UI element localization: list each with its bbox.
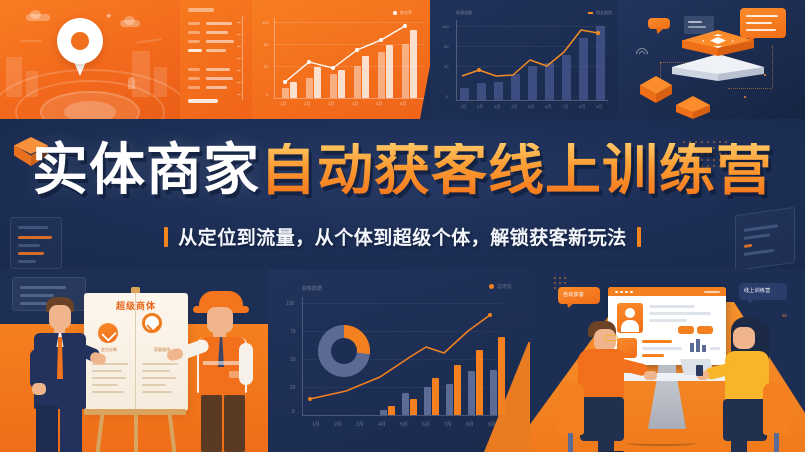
growth-combo-chart-dark: 私域流量 增 [430, 0, 630, 119]
title-section: 实体商家自动获客线上训练营 从定位到流量，从个体到超级个体，解锁获客新玩法 [0, 119, 805, 269]
chat-bubble-icon [740, 8, 786, 38]
easel-board: 超级商体 定位诊断 获客路径 [84, 287, 188, 452]
tag-icon [648, 18, 670, 29]
building-shape [154, 67, 167, 97]
online-training-session-illustration: ❝ [530, 269, 805, 452]
strip-header [188, 8, 214, 12]
growth-combo-chart-light: 转化率 1月 2月 3月 4月 5月 6月 100 60 30 0 [252, 0, 460, 119]
phone-icon [696, 365, 703, 376]
subtitle-row: 从定位到流量，从个体到超级个体，解锁获客新玩法 [0, 223, 805, 252]
trend-line [430, 0, 630, 119]
performance-dashboard-chart: 获客数据 [268, 269, 530, 452]
poster-canvas: ✦ [0, 0, 805, 452]
worker-figure [185, 291, 261, 452]
decorative-dash [20, 40, 42, 42]
small-pin-icon [128, 77, 135, 89]
follow-button[interactable] [678, 326, 694, 334]
speech-bubble-left: 自动获客 [558, 287, 600, 304]
page-title: 实体商家自动获客线上训练营 [0, 143, 805, 199]
glasses-icon [604, 335, 618, 341]
title-white-part: 实体商家 [32, 143, 260, 199]
building-shape [26, 71, 38, 97]
check-badge-icon [98, 323, 118, 343]
title-orange-part: 自动获客线上训练营 [260, 143, 773, 199]
strip-axis [242, 16, 243, 100]
data-list-strip [180, 0, 252, 119]
subtitle-left-bar [164, 227, 168, 247]
businessman-figure [20, 297, 94, 452]
board-title: 超级商体 [84, 299, 188, 312]
cable-decor [626, 438, 696, 446]
merchant-consulting-illustration: 超级商体 定位诊断 获客路径 [0, 269, 268, 452]
building-shape [132, 51, 150, 97]
subtitle-right-bar [637, 227, 641, 247]
cube-icon [676, 96, 710, 119]
cloud-icon [120, 20, 140, 27]
page-subtitle: 从定位到流量，从个体到超级个体，解锁获客新玩法 [178, 223, 627, 250]
floating-panel [684, 16, 714, 34]
chart-legend: 转化率 [393, 10, 412, 16]
isometric-platform-illustration [618, 0, 805, 119]
speech-bubble-right: 线上训练营 [739, 283, 787, 300]
location-targeting-illustration: ✦ [0, 0, 180, 119]
male-trainee-figure [560, 321, 646, 452]
bottom-illustration-band: 超级商体 定位诊断 获客路径 [0, 269, 805, 452]
map-pin-icon [57, 18, 103, 78]
office-chair-left [558, 383, 584, 435]
female-trainee-figure [701, 317, 787, 452]
cube-icon [640, 76, 672, 108]
cloud-icon [26, 14, 50, 21]
sparkle-icon: ✦ [105, 12, 113, 21]
chart-legend: 总增长 [489, 283, 512, 290]
decorative-dash [136, 38, 162, 44]
check-badge-outline-icon [142, 313, 162, 333]
chart-legend: 增长趋势 [588, 10, 612, 16]
office-chair-right [763, 383, 789, 435]
building-shape [6, 57, 22, 97]
top-illustration-band: ✦ [0, 0, 805, 119]
